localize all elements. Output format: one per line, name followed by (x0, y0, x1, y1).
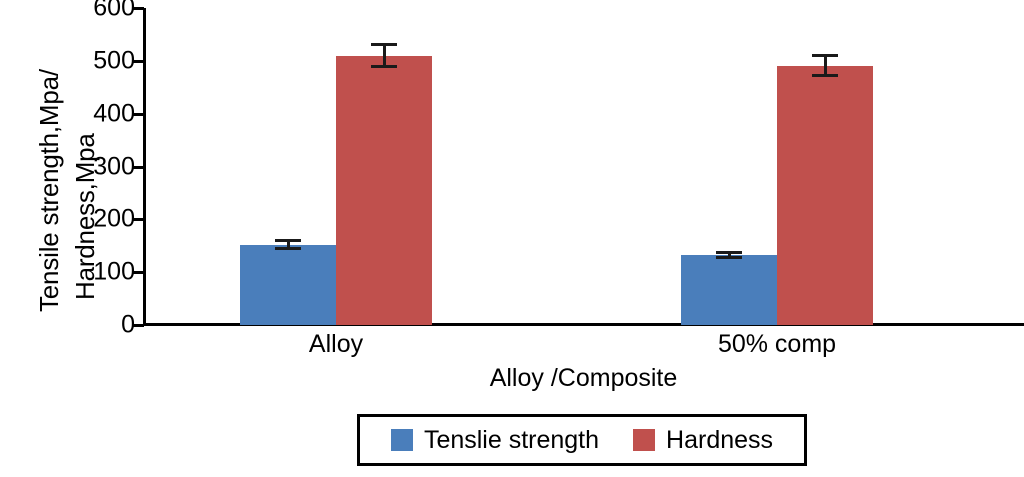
error-bar-cap-bottom (275, 247, 301, 250)
error-bar (716, 251, 742, 259)
bar-hardness-50-comp (777, 66, 873, 325)
y-axis-tick-mark (133, 113, 144, 116)
y-axis-tick-mark (133, 166, 144, 169)
legend-swatch-icon (633, 429, 655, 451)
error-bar-cap-bottom (812, 74, 838, 77)
legend-item: Hardness (633, 428, 773, 453)
chart-legend: Tenslie strengthHardness (357, 414, 807, 466)
error-bar-cap-bottom (371, 65, 397, 68)
error-bar (275, 239, 301, 250)
y-axis-tick-label: 200 (75, 207, 135, 232)
y-axis-tick-label: 100 (75, 260, 135, 285)
x-axis-category-label: Alloy (216, 332, 456, 357)
plot-area (146, 8, 1024, 325)
error-bar-cap-top (275, 239, 301, 242)
legend-label: Tenslie strength (424, 428, 599, 453)
bar-chart: Tensile strength,Mpa/ Hardness,Mpa 01002… (0, 0, 1024, 477)
y-axis-tick-label: 400 (75, 101, 135, 126)
y-axis-tick-mark (133, 60, 144, 63)
y-axis-tick-mark (133, 7, 144, 10)
legend-label: Hardness (666, 428, 773, 453)
bar-hardness-alloy (336, 56, 432, 325)
error-bar-cap-top (371, 43, 397, 46)
y-axis-tick-labels: 0100200300400500600 (75, 0, 135, 340)
y-axis-tick-label: 500 (75, 48, 135, 73)
x-axis-title: Alloy /Composite (143, 366, 1024, 391)
error-bar (371, 43, 397, 67)
error-bar-cap-top (812, 54, 838, 57)
legend-swatch-icon (391, 429, 413, 451)
bar-tenslie-strength-alloy (240, 245, 336, 325)
y-axis-tick-label: 0 (75, 313, 135, 338)
bar-tenslie-strength-50-comp (681, 255, 777, 325)
y-axis-title-line-1: Tensile strength,Mpa/ (36, 69, 62, 312)
y-axis-tick-mark (133, 218, 144, 221)
y-axis-tick-mark (133, 324, 144, 327)
y-axis-tick-label: 300 (75, 154, 135, 179)
y-axis-tick-label: 600 (75, 0, 135, 21)
error-bar-cap-bottom (716, 256, 742, 259)
legend-item: Tenslie strength (391, 428, 599, 453)
y-axis-tick-mark (133, 271, 144, 274)
error-bar (812, 54, 838, 77)
error-bar-cap-top (716, 251, 742, 254)
x-axis-category-label: 50% comp (657, 332, 897, 357)
